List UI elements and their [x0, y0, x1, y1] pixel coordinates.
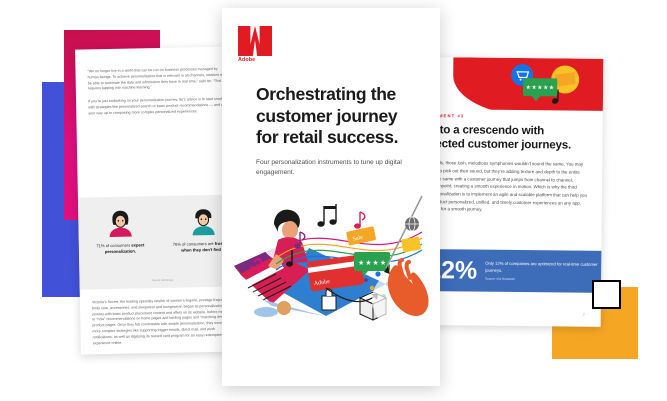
stat-lead-1: 71% of consumers — [96, 243, 130, 249]
cookie-icon — [277, 301, 291, 315]
stat-caption-1: 71% of consumers expect personalization. — [85, 242, 156, 256]
right-page-body: INSTRUMENT #3 Build to a crescendo with … — [430, 109, 603, 215]
conductor-piano-commerce-illustration: Adobe ★★★★★ Sale — [226, 188, 436, 368]
cover-subtitle: Four personalization instruments to tune… — [256, 158, 406, 179]
stat-lead-2: 76% of consumers are — [173, 241, 214, 247]
right-page-banner: ★★★★★ — [431, 57, 604, 111]
stat-text-group: Only 12% of companies are optimized for … — [485, 261, 603, 282]
loyalty-card-icon — [554, 72, 575, 86]
stat-description: Only 12% of companies are optimized for … — [485, 261, 603, 275]
cover-title: Orchestrating the customer journey for r… — [256, 84, 424, 149]
ebook-page-right[interactable]: ★★★★★ INSTRUMENT #3 Build to a crescendo… — [429, 57, 604, 327]
sale-tag-graphic: Sale — [346, 226, 376, 246]
right-page-stat-bar: 12% Only 12% of companies are optimized … — [429, 249, 604, 293]
woman-avatar-icon — [84, 205, 156, 238]
screenshot-stage: “We no longer live in a world that can b… — [0, 0, 667, 401]
left-paragraph-1: “We no longer live in a world that can b… — [87, 67, 229, 93]
ticket-icon — [401, 237, 421, 253]
right-page-copy: Like the woodwinds, those lush, melodiou… — [429, 159, 591, 215]
adobe-a-mark — [238, 26, 272, 56]
left-paragraph-2: If you’re just embarking on your persona… — [88, 97, 230, 117]
adobe-wordmark: Adobe — [238, 57, 278, 63]
selection-marker[interactable] — [592, 280, 621, 309]
mouse-pad-shape — [254, 307, 278, 317]
stat-source: Source: 451 Research — [485, 277, 603, 282]
instrument-kicker: INSTRUMENT #3 — [429, 113, 591, 120]
left-page-stats-panel: 71% of consumers expect personalization.… — [78, 194, 246, 289]
case-study-text: Victoria’s Secret, the leading specialty… — [92, 298, 235, 347]
ebook-cover-page[interactable]: Adobe Orchestrating the customer journey… — [222, 8, 440, 386]
right-page-heading: Build to a crescendo with connected cust… — [429, 123, 591, 153]
adobe-logo: Adobe — [238, 26, 278, 63]
left-page-body: “We no longer live in a world that can b… — [75, 46, 242, 117]
stat-block-1: 71% of consumers expect personalization. — [78, 205, 163, 290]
music-note-icon — [547, 88, 563, 106]
page-number: 7 — [583, 313, 585, 317]
